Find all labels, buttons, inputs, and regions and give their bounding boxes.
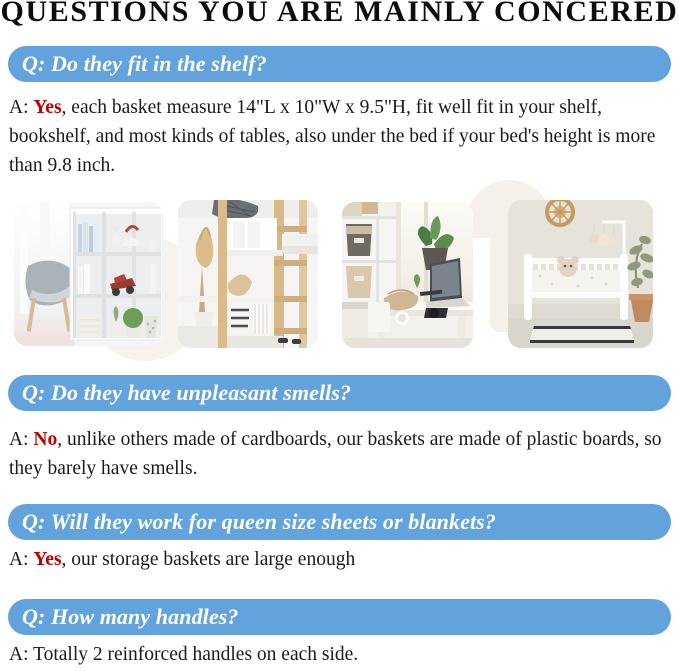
faq-answer-1: A: Yes, each basket measure 14"L x 10"W …	[9, 93, 674, 180]
answer-prefix-3: A:	[9, 549, 33, 570]
faq-question-bar-2[interactable]: Q: Do they have unpleasant smells?	[8, 375, 671, 411]
photo-living-room-cube-shelf	[14, 202, 163, 346]
answer-highlight-2: No	[33, 429, 57, 450]
photo-nursery-crib	[508, 200, 653, 348]
photo-nursery-crib-image	[508, 200, 653, 348]
answer-prefix-4: A:	[9, 644, 33, 665]
answer-body-1: , each basket measure 14"L x 10"W x 9.5"…	[9, 97, 655, 176]
photo-living-room-cube-shelf-image	[14, 202, 163, 346]
answer-body-3: , our storage baskets are large enough	[62, 549, 356, 570]
faq-answer-4: A: Totally 2 reinforced handles on each …	[9, 640, 674, 669]
answer-highlight-1: Yes	[33, 97, 61, 118]
page-title: QUESTIONS YOU ARE MAINLY CONCERED	[0, 0, 679, 31]
faq-question-bar-3[interactable]: Q: Will they work for queen size sheets …	[8, 504, 671, 540]
faq-question-text-3: Q: Will they work for queen size sheets …	[22, 511, 496, 533]
answer-highlight-3: Yes	[33, 549, 61, 570]
photo-gallery	[0, 180, 679, 358]
answer-body-2: , unlike others made of cardboards, our …	[9, 429, 662, 479]
faq-question-text-1: Q: Do they fit in the shelf?	[22, 53, 267, 75]
photo-home-office-desk-image	[342, 202, 473, 348]
photo-bunk-bed-storage	[178, 200, 318, 348]
answer-prefix-1: A:	[9, 97, 33, 118]
answer-body-4: Totally 2 reinforced handles on each sid…	[33, 644, 358, 665]
faq-answer-3: A: Yes, our storage baskets are large en…	[9, 545, 674, 574]
faq-question-text-4: Q: How many handles?	[22, 606, 239, 628]
faq-answer-2: A: No, unlike others made of cardboards,…	[9, 425, 674, 483]
faq-question-bar-4[interactable]: Q: How many handles?	[8, 599, 671, 635]
photo-bunk-bed-storage-image	[178, 200, 318, 348]
faq-page: QUESTIONS YOU ARE MAINLY CONCERED Q: Do …	[0, 0, 679, 671]
faq-question-bar-1[interactable]: Q: Do they fit in the shelf?	[8, 46, 671, 82]
photo-home-office-desk	[342, 202, 473, 348]
answer-prefix-2: A:	[9, 429, 33, 450]
faq-question-text-2: Q: Do they have unpleasant smells?	[22, 382, 351, 404]
